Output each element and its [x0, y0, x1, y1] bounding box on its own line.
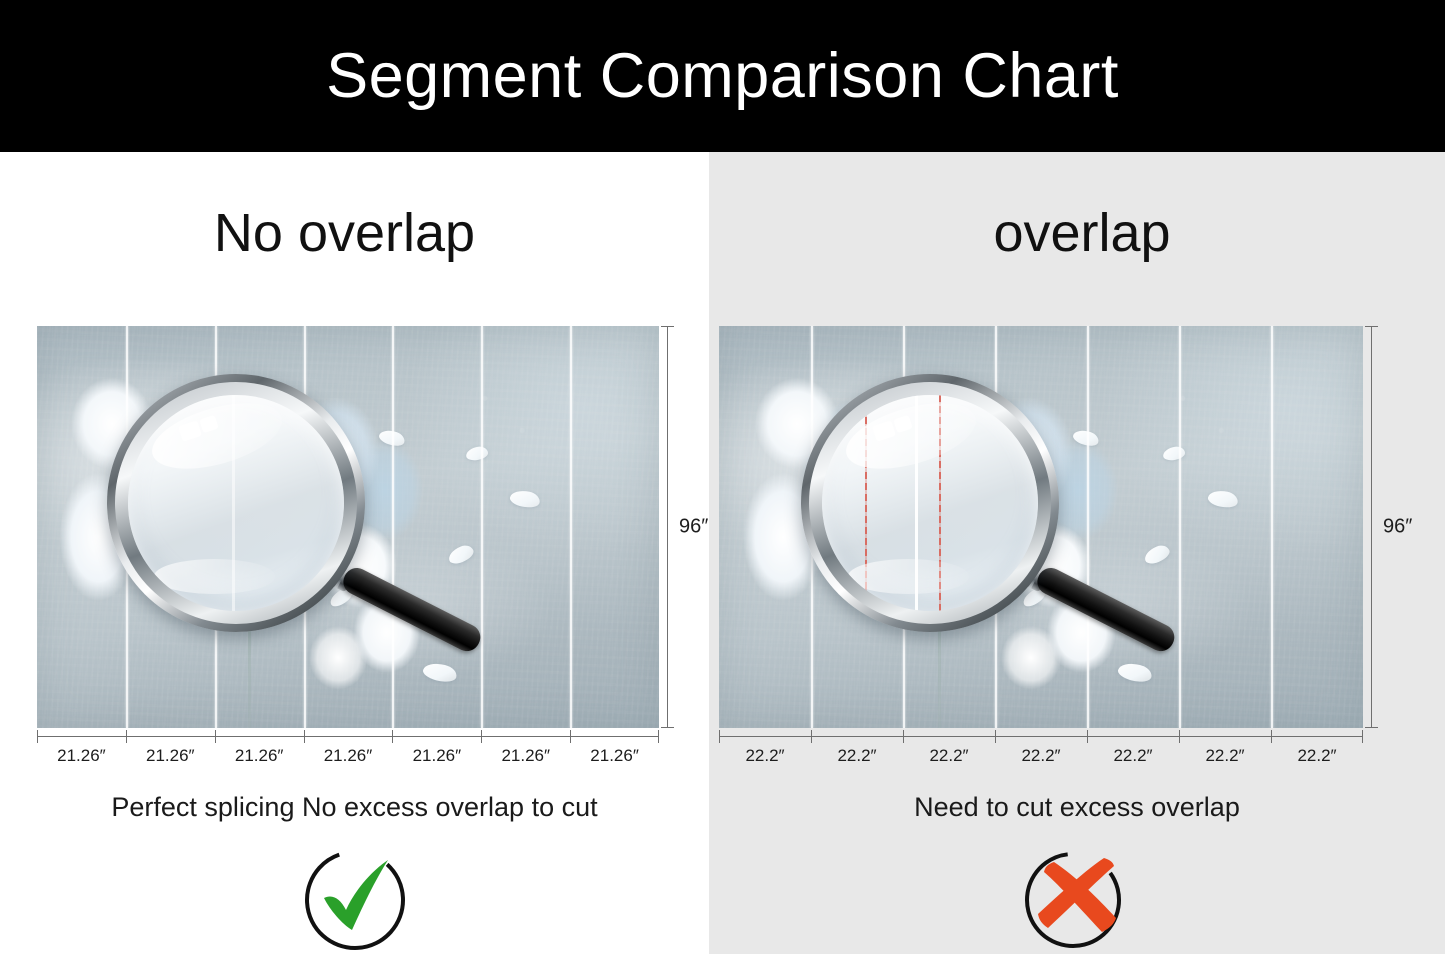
segment-width-label: 22.2″: [719, 746, 811, 766]
height-label: 96″: [1383, 516, 1412, 539]
petal-icon: [508, 488, 541, 510]
peony-flower-blue: [951, 390, 1144, 599]
height-label: 96″: [679, 516, 708, 539]
segment-width-label: 22.2″: [903, 746, 995, 766]
verdict-no-overlap: [0, 840, 709, 954]
cross-mark-icon: [1018, 840, 1136, 954]
flower-stem: [938, 559, 941, 728]
petal-icon: [446, 543, 476, 567]
mural-artwork: [37, 326, 659, 728]
segment-width-label: 22.2″: [995, 746, 1087, 766]
mural-preview-overlap: [719, 326, 1363, 728]
petal-icon: [1163, 445, 1187, 461]
check-mark-icon: [296, 840, 414, 954]
page-title: Segment Comparison Chart: [326, 40, 1119, 112]
segment-width-label: 22.2″: [811, 746, 903, 766]
mural-preview-no-overlap: [37, 326, 659, 728]
panel-overlap: overlap: [709, 152, 1445, 954]
petal-icon: [1207, 488, 1240, 510]
segment-width-label: 21.26″: [481, 746, 570, 766]
height-dimension-overlap: 96″: [1365, 326, 1425, 728]
segment-ruler-no-overlap: 21.26″ 21.26″ 21.26″ 21.26″ 21.26″ 21.26…: [37, 730, 659, 772]
segment-width-label: 21.26″: [570, 746, 659, 766]
peony-flower-large: [732, 358, 964, 655]
peony-flower-white: [286, 503, 460, 712]
peony-flower-blue: [261, 390, 448, 599]
segment-ruler-overlap: 22.2″ 22.2″ 22.2″ 22.2″ 22.2″ 22.2″ 22.2…: [719, 730, 1363, 772]
petal-icon: [1020, 586, 1047, 609]
peony-flower-white: [977, 503, 1157, 712]
petal-icon: [1142, 543, 1172, 567]
segment-width-label: 21.26″: [392, 746, 481, 766]
petal-icon: [465, 445, 489, 461]
title-banner: Segment Comparison Chart: [0, 0, 1445, 152]
panel-no-overlap: No overlap: [0, 152, 709, 954]
petal-icon: [291, 403, 324, 425]
petal-icon: [421, 660, 458, 685]
segment-width-label: 22.2″: [1271, 746, 1363, 766]
verdict-overlap: [709, 840, 1445, 954]
segment-width-label: 21.26″: [126, 746, 215, 766]
segment-width-label: 21.26″: [215, 746, 304, 766]
segment-width-label: 21.26″: [37, 746, 126, 766]
panel-heading-no-overlap: No overlap: [0, 202, 709, 264]
petal-icon: [378, 427, 407, 448]
petal-icon: [1117, 660, 1154, 685]
panel-heading-overlap: overlap: [709, 202, 1445, 264]
caption-overlap: Need to cut excess overlap: [709, 792, 1445, 823]
segment-width-label: 22.2″: [1087, 746, 1179, 766]
flower-stem: [248, 559, 251, 728]
comparison-panels: No overlap: [0, 152, 1445, 954]
mural-artwork: [719, 326, 1363, 728]
comparison-chart-page: Segment Comparison Chart No overlap: [0, 0, 1445, 954]
segment-width-label: 22.2″: [1179, 746, 1271, 766]
caption-no-overlap: Perfect splicing No excess overlap to cu…: [0, 792, 709, 823]
peony-flower-large: [49, 358, 273, 655]
petal-icon: [328, 586, 355, 609]
petal-icon: [982, 403, 1015, 425]
petal-icon: [1072, 427, 1101, 448]
segment-width-label: 21.26″: [304, 746, 393, 766]
